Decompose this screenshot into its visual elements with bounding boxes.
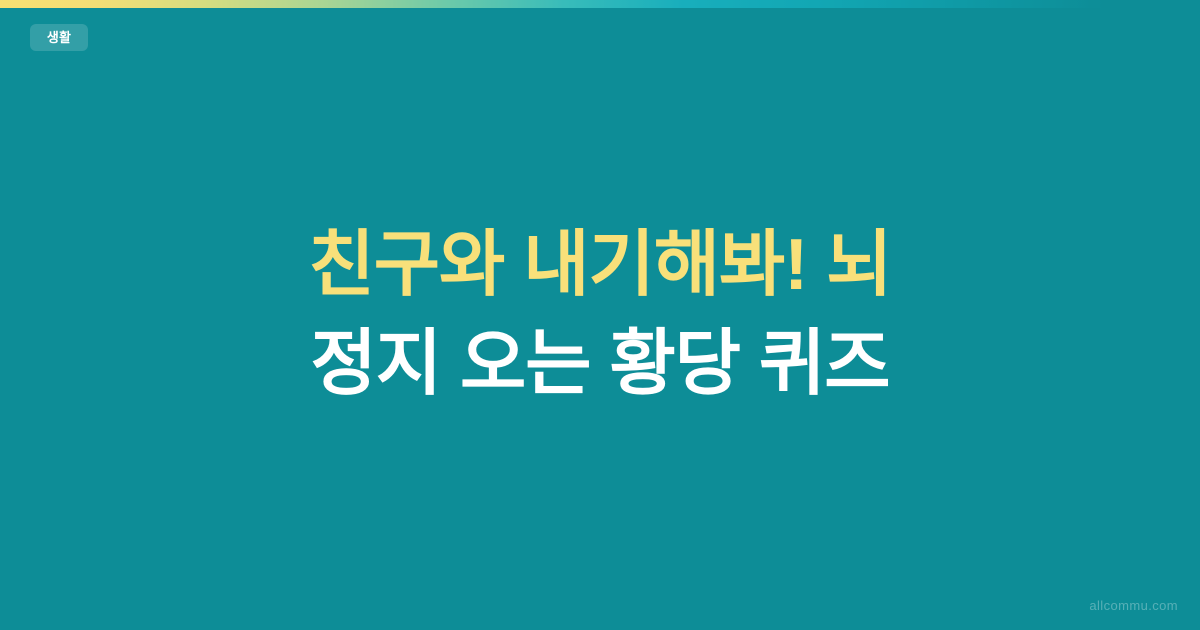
headline-line-1: 친구와 내기해봐! 뇌 — [309, 216, 892, 315]
top-accent-gradient-bar — [0, 0, 1200, 8]
headline-block: 친구와 내기해봐! 뇌 정지 오는 황당 퀴즈 — [0, 0, 1200, 630]
thumbnail-card: 생활 친구와 내기해봐! 뇌 정지 오는 황당 퀴즈 allcommu.com — [0, 0, 1200, 630]
category-badge[interactable]: 생활 — [30, 24, 88, 51]
site-watermark: allcommu.com — [1089, 599, 1178, 612]
headline-line-2: 정지 오는 황당 퀴즈 — [311, 315, 890, 414]
category-badge-label: 생활 — [47, 31, 71, 44]
